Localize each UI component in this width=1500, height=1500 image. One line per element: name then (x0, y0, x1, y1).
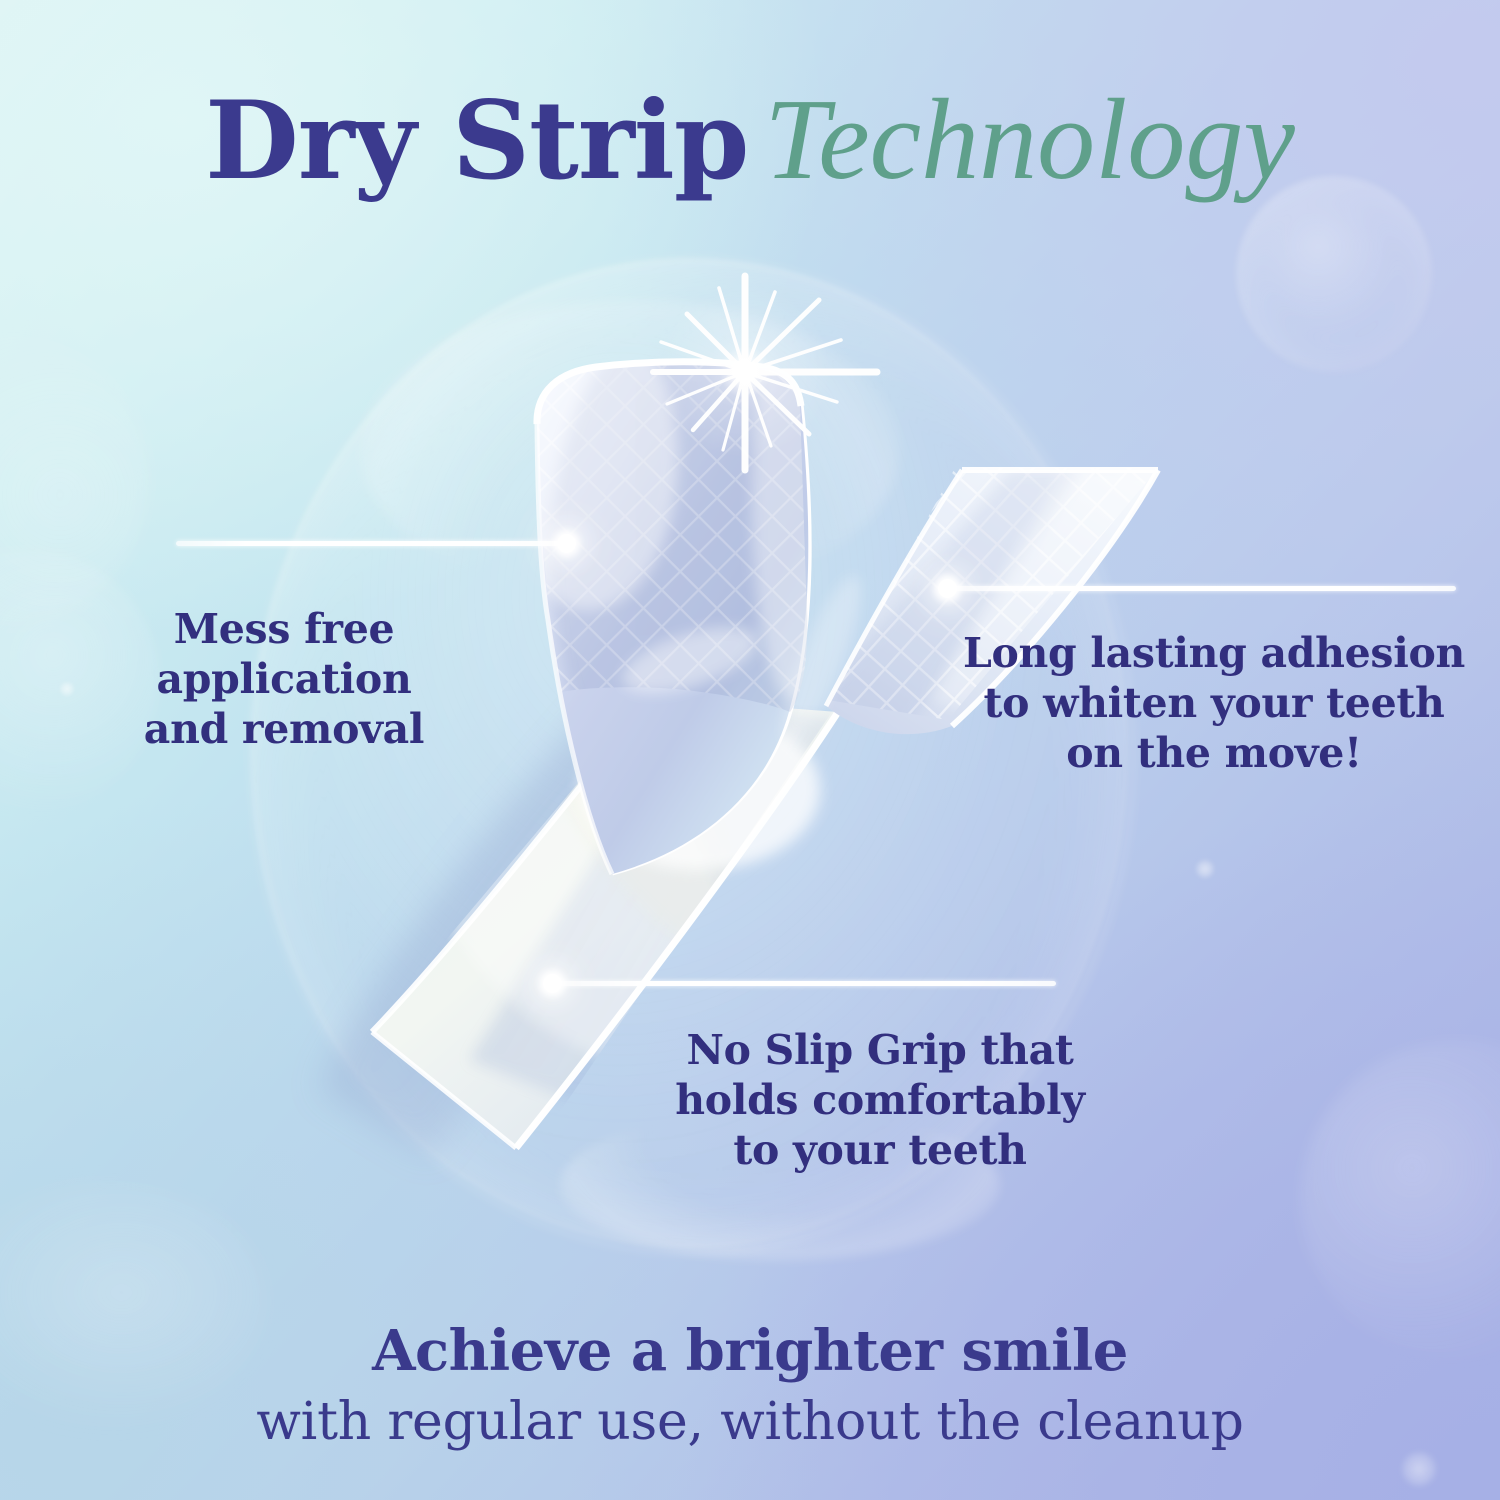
page-title: Dry StripTechnology (0, 82, 1500, 198)
leader-line-bottom (550, 981, 1056, 986)
callout-mess-free-line-1: Mess free (96, 604, 472, 654)
callout-adhesion-line-1: Long lasting adhesion (958, 628, 1470, 678)
callout-grip-line-1: No Slip Grip that (648, 1025, 1112, 1075)
leader-endpoint-dot-right (938, 579, 957, 598)
background-bubble-bottom-right (1300, 1040, 1500, 1360)
callout-long-lasting-adhesion: Long lasting adhesion to whiten your tee… (958, 628, 1470, 778)
callout-no-slip-grip: No Slip Grip that holds comfortably to y… (648, 1025, 1112, 1175)
strip-left-panel (498, 300, 850, 910)
leader-line-right (944, 586, 1456, 591)
leader-endpoint-dot-bottom (543, 974, 562, 993)
leader-endpoint-dot-left (557, 534, 576, 553)
leader-line-left (176, 541, 568, 546)
callout-adhesion-line-3: on the move! (958, 728, 1470, 778)
callout-adhesion-line-2: to whiten your teeth (958, 678, 1470, 728)
callout-mess-free-line-2: application (96, 654, 472, 704)
background-bubble-speck-1 (1196, 860, 1214, 878)
infographic-canvas: Dry StripTechnology (0, 0, 1500, 1500)
page-title-main: Dry Strip (205, 78, 748, 204)
callout-mess-free-line-3: and removal (96, 704, 472, 754)
background-bubble-speck-2 (1402, 1452, 1436, 1486)
background-bubble-top-right (1236, 176, 1432, 372)
callout-grip-line-2: holds comfortably (648, 1075, 1112, 1125)
callout-mess-free: Mess free application and removal (96, 604, 472, 754)
sparkle-starburst-icon (653, 276, 877, 470)
bottom-tagline-line-1: Achieve a brighter smile (0, 1318, 1500, 1385)
hero-bubble-highlight-top (360, 300, 900, 600)
strip-inner-fold (580, 404, 820, 872)
callout-grip-line-3: to your teeth (648, 1125, 1112, 1175)
bottom-tagline-line-2: with regular use, without the cleanup (0, 1391, 1500, 1453)
background-bubble-left-outer (0, 330, 150, 630)
background-bubble-speck-3 (60, 682, 74, 696)
strip-glints (615, 569, 874, 751)
page-title-accent: Technology (764, 76, 1295, 204)
bottom-tagline: Achieve a brighter smile with regular us… (0, 1318, 1500, 1454)
